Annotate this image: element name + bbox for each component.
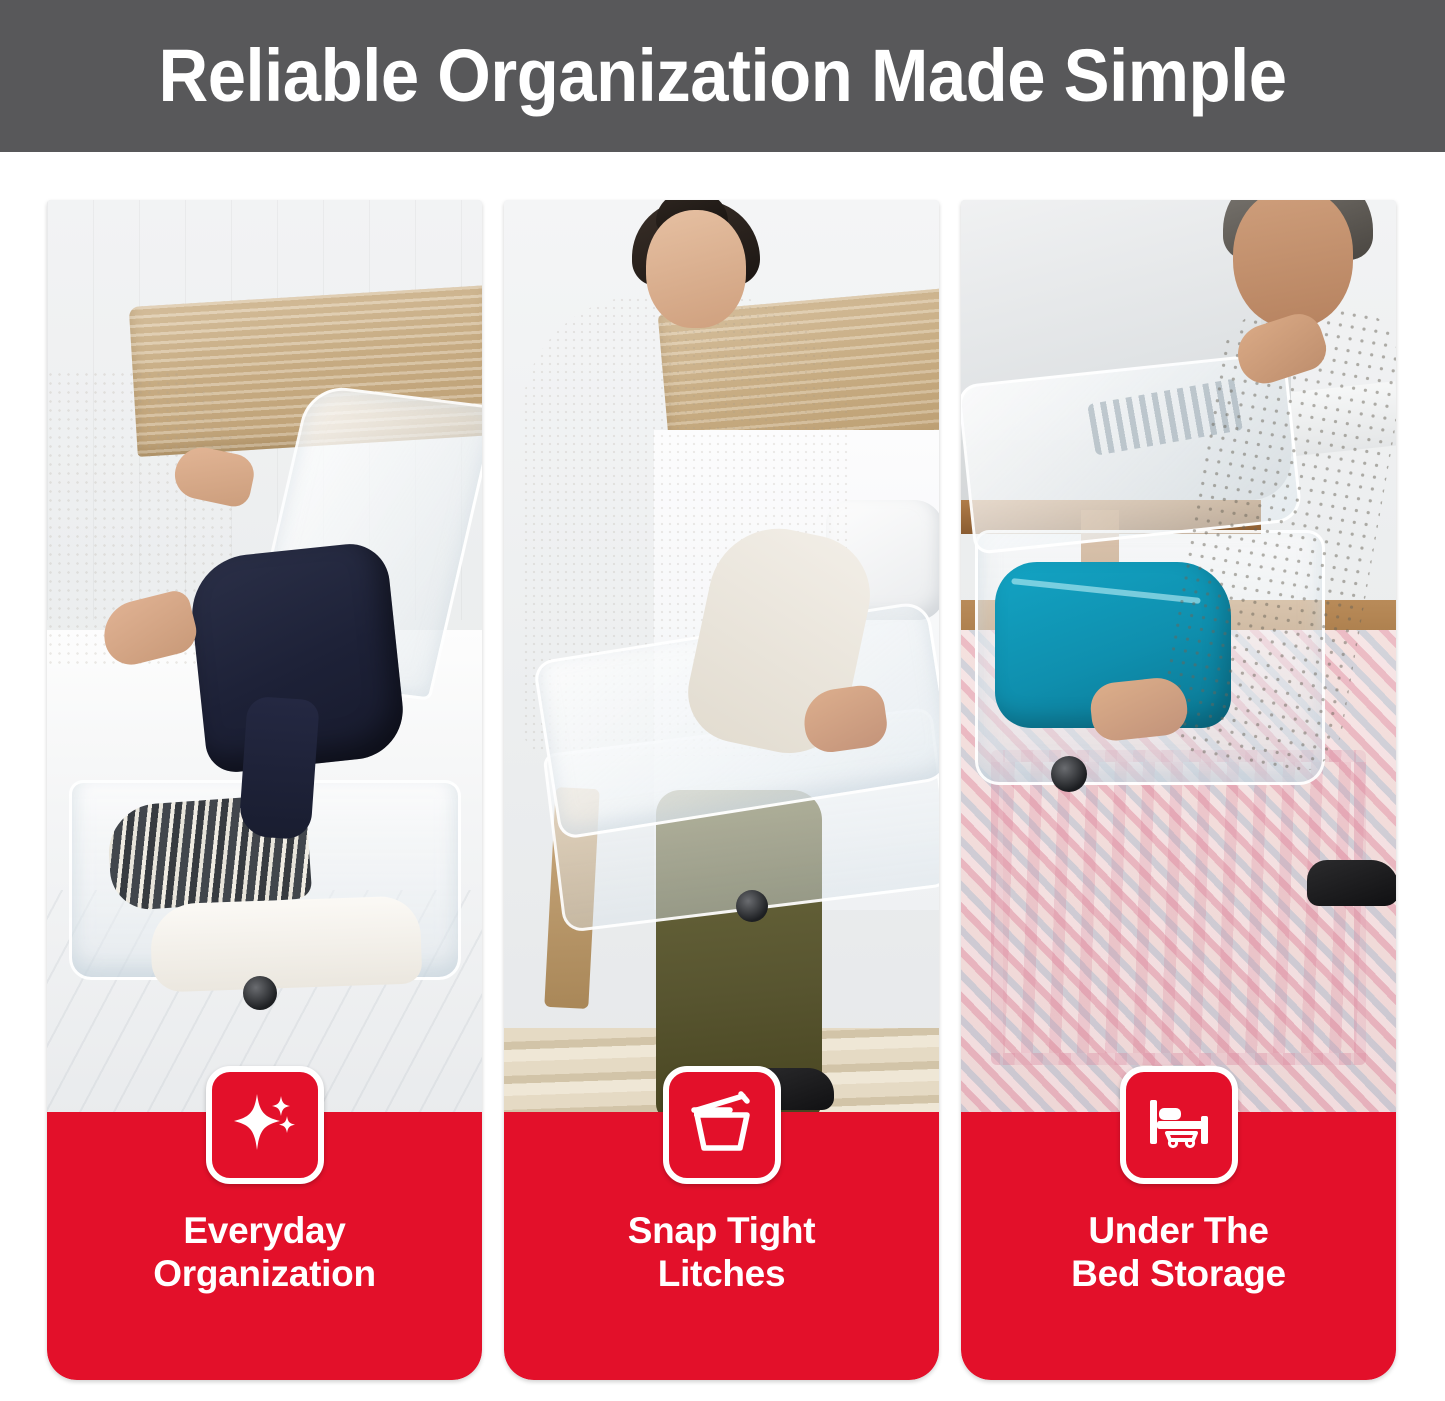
page-title: Reliable Organization Made Simple (158, 39, 1286, 113)
bin-wheel (1051, 756, 1087, 792)
bed-with-storage-icon (1120, 1066, 1238, 1184)
feature-label-snap-tight-litches: Snap Tight Litches (504, 1210, 939, 1296)
feature-band-everyday-organization: Everyday Organization (47, 1112, 482, 1380)
storage-bin-lid-icon (663, 1066, 781, 1184)
feature-label-under-the-bed-storage: Under The Bed Storage (961, 1210, 1396, 1296)
feature-panel-under-the-bed-storage[interactable]: Under The Bed Storage (961, 200, 1396, 1380)
panel-photo-snap-tight-litches (504, 200, 939, 1135)
panel-photo-under-the-bed-storage (961, 200, 1396, 1135)
navy-sweater-sleeve (238, 696, 320, 841)
shoe (1307, 860, 1396, 906)
face (646, 210, 746, 328)
bin-wheel (243, 976, 277, 1010)
feature-band-under-the-bed-storage: Under The Bed Storage (961, 1112, 1396, 1380)
feature-panel-everyday-organization[interactable]: Everyday Organization (47, 200, 482, 1380)
panel-photo-everyday-organization (47, 200, 482, 1135)
header-banner: Reliable Organization Made Simple (0, 0, 1445, 152)
bin-wheel (736, 890, 768, 922)
feature-panel-snap-tight-litches[interactable]: Snap Tight Litches (504, 200, 939, 1380)
sparkle-icon (206, 1066, 324, 1184)
feature-label-everyday-organization: Everyday Organization (47, 1210, 482, 1296)
folded-white-linens (150, 895, 423, 992)
face (1233, 200, 1353, 328)
feature-band-snap-tight-litches: Snap Tight Litches (504, 1112, 939, 1380)
feature-panels: Everyday Organization (47, 200, 1396, 1380)
